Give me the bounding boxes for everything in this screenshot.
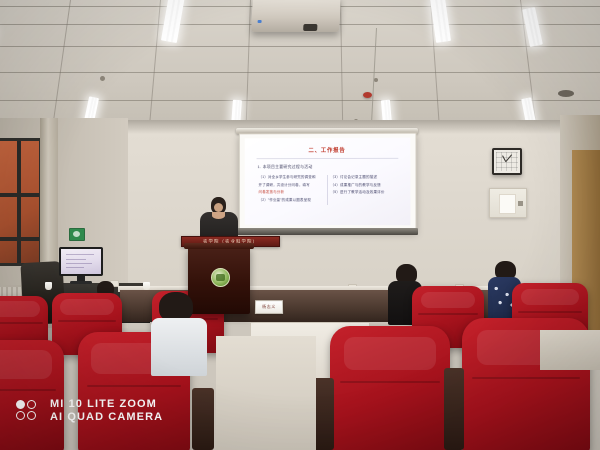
slide-bullet: （5）进行了教学活动及效果评价	[330, 190, 396, 195]
slide-bullet: 问卷发放与分析	[259, 190, 324, 195]
attendee-front-center	[145, 292, 207, 372]
presenter-face	[214, 203, 223, 212]
camera-watermark: MI 10 LITE ZOOM AI QUAD CAMERA	[16, 398, 163, 424]
wall-notice-panel	[489, 188, 527, 218]
slide-bullet: 开了调研，共设计分问卷，填写	[259, 183, 324, 188]
slide-columns: （1）对全乡学生参与研究的调查和 开了调研，共设计分问卷，填写 问卷发放与分析 …	[256, 175, 400, 206]
projector-lens	[303, 24, 317, 31]
conference-room-photo: 二、工作报告 1. 本项目主要研究过程与活动 （1）对全乡学生参与研究的调查和 …	[0, 0, 600, 450]
watermark-text: MI 10 LITE ZOOM AI QUAD CAMERA	[50, 398, 163, 424]
paper-cup	[143, 282, 150, 290]
slide-column-left: （1）对全乡学生参与研究的调查和 开了调研，共设计分问卷，填写 问卷发放与分析 …	[256, 175, 328, 205]
attendee-body	[151, 318, 207, 376]
ceiling-speaker	[558, 90, 574, 97]
slide-title: 二、工作报告	[245, 146, 411, 154]
audience-seat-foreground[interactable]	[330, 326, 450, 450]
podium-top	[184, 243, 254, 249]
quad-camera-icon	[16, 400, 42, 422]
slide-bullet: （3）讨论会记录主题的描述	[330, 175, 396, 180]
sprinkler-head	[374, 78, 378, 82]
emergency-exit-sign	[69, 228, 85, 241]
slide-subtitle: 1. 本项目主要研究过程与活动	[258, 164, 411, 170]
ceiling-projector	[251, 0, 341, 32]
name-card-text: 杨志义	[262, 304, 276, 310]
slide-bullet: （4）成果推广与的教学与反馈	[330, 183, 396, 188]
seat-armrest	[192, 388, 214, 450]
paper-cup	[45, 282, 52, 290]
university-emblem	[211, 268, 230, 287]
name-card: 杨志义	[255, 300, 283, 314]
watermark-line-2: AI QUAD CAMERA	[50, 411, 163, 424]
audience-seat-foreground[interactable]	[0, 340, 64, 450]
slide-bullet: （2）“作业量”的成果以图表呈现	[259, 198, 324, 203]
wall-clock	[492, 148, 522, 175]
clock-face	[494, 150, 520, 173]
sprinkler-head	[100, 76, 105, 81]
presenter-collar	[212, 212, 225, 219]
ceiling	[0, 0, 600, 136]
watermark-line-1: MI 10 LITE ZOOM	[50, 398, 163, 411]
slide-divider	[257, 158, 399, 159]
presentation-slide: 二、工作报告 1. 本项目主要研究过程与活动 （1）对全乡学生参与研究的调查和 …	[245, 138, 411, 226]
presenter-monitor[interactable]	[59, 247, 103, 276]
left-window	[0, 138, 42, 266]
monitor-screen	[61, 249, 101, 274]
floor	[216, 336, 316, 450]
slide-bullet: （1）对全乡学生参与研究的调查和	[259, 175, 324, 180]
floor-right	[540, 330, 600, 370]
slide-column-right: （3）讨论会记录主题的描述 （4）成果推广与的教学与反馈 （5）进行了教学活动及…	[327, 175, 399, 206]
projection-screen: 二、工作报告 1. 本项目主要研究过程与活动 （1）对全乡学生参与研究的调查和 …	[239, 133, 417, 232]
smoke-detector	[363, 92, 372, 98]
projection-screen-bottom-bar	[236, 228, 418, 235]
seat-armrest	[444, 368, 464, 450]
projector-led	[258, 20, 262, 23]
